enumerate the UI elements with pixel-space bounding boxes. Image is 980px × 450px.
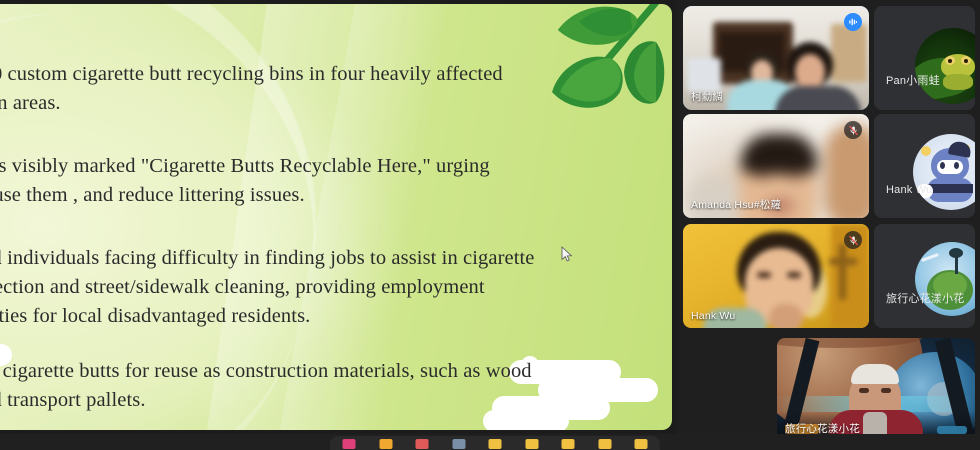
participant-name: Hank Wu — [886, 184, 932, 196]
video-conference-window: 110 custom cigarette butt recycling bins… — [0, 0, 980, 450]
toolbar-apps-button[interactable] — [596, 437, 614, 450]
participant-name: 柯勳綢 — [691, 89, 723, 104]
mic-muted-icon — [848, 235, 859, 246]
mic-status-badge — [844, 121, 862, 139]
presentation-slide: 110 custom cigarette butt recycling bins… — [0, 4, 672, 430]
participant-tile-1[interactable]: 柯勳綢 — [683, 6, 869, 110]
participant-tile-3[interactable]: Amanda Hsu#松蘿 — [683, 114, 869, 218]
toolbar-reactions-button[interactable] — [559, 437, 577, 450]
slide-line: led cigarette butts for reuse as constru… — [0, 357, 580, 386]
mic-status-badge — [844, 13, 862, 31]
toolbar-video-button[interactable] — [377, 437, 395, 450]
slide-line: and transport pallets. — [0, 386, 580, 415]
toolbar-share-screen-button[interactable] — [486, 437, 504, 450]
slide-paragraph-3: yed individuals facing difficulty in fin… — [0, 244, 580, 331]
participant-tile-2[interactable]: Pan小雨蛙 — [874, 6, 975, 110]
participant-name: Amanda Hsu#松蘿 — [691, 197, 781, 212]
participant-tile-4[interactable]: Hank Wu — [874, 114, 975, 218]
participant-filmstrip[interactable]: 柯勳綢 Pan小雨蛙 — [678, 0, 980, 450]
slide-line: unities for local disadvantaged resident… — [0, 302, 580, 331]
mic-muted-icon — [848, 125, 859, 136]
avatar — [915, 28, 975, 104]
participant-name: 旅行心花漾小花 — [886, 290, 964, 306]
toolbar-items[interactable] — [330, 436, 660, 450]
participant-name: Hank Wu — [691, 310, 735, 322]
slide-paragraph-1: 110 custom cigarette butt recycling bins… — [0, 60, 580, 118]
avatar — [913, 134, 975, 210]
slide-line: yed individuals facing difficulty in fin… — [0, 244, 580, 273]
toolbar-record-button[interactable] — [523, 437, 541, 450]
slide-paragraph-2: bins visibly marked "Cigarette Butts Rec… — [0, 152, 580, 210]
participant-tile-5[interactable]: Hank Wu — [683, 224, 869, 328]
toolbar-more-button[interactable] — [632, 437, 650, 450]
slide-paragraph-4: led cigarette butts for reuse as constru… — [0, 357, 580, 415]
participant-name: Pan小雨蛙 — [886, 72, 940, 88]
slide-body-text: 110 custom cigarette butt recycling bins… — [0, 4, 672, 430]
shared-screen-region[interactable]: 110 custom cigarette butt recycling bins… — [0, 0, 676, 434]
mouse-cursor — [561, 246, 573, 263]
slide-line: ollection and street/sidewalk cleaning, … — [0, 273, 580, 302]
toolbar-participants-button[interactable] — [413, 437, 431, 450]
slide-line: to use them , and reduce littering issue… — [0, 181, 580, 210]
toolbar-audio-button[interactable] — [340, 437, 358, 450]
slide-line: bins visibly marked "Cigarette Butts Rec… — [0, 152, 580, 181]
slide-line: own areas. — [0, 89, 580, 118]
toolbar-chat-button[interactable] — [450, 437, 468, 450]
slide-line: 110 custom cigarette butt recycling bins… — [0, 60, 580, 89]
participant-tile-7[interactable]: 旅行心花漾小花 — [777, 338, 975, 442]
participant-tile-6[interactable]: 旅行心花漾小花 — [874, 224, 975, 328]
audio-level-icon — [847, 16, 859, 28]
meeting-toolbar[interactable] — [0, 434, 980, 450]
mic-status-badge — [844, 231, 862, 249]
